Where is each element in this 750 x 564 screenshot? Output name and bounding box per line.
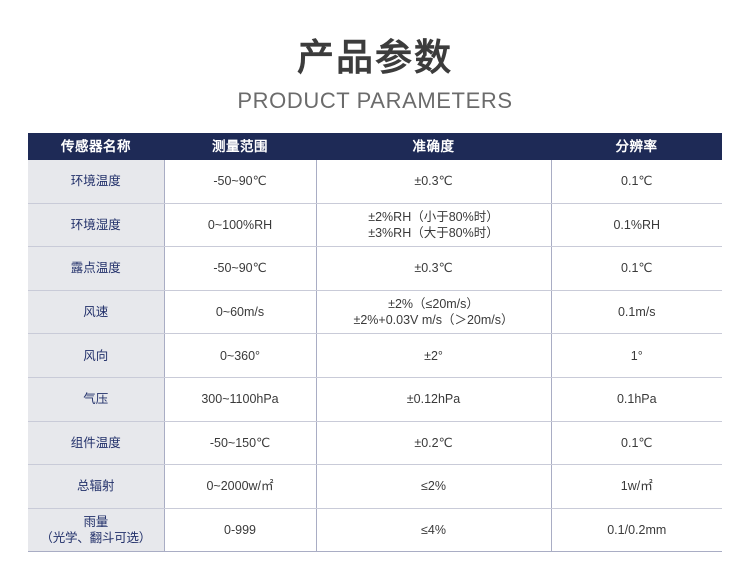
cell-measuring-range: -50~150℃ bbox=[164, 421, 316, 465]
sensor-name-main: 风向 bbox=[32, 348, 160, 364]
sensor-name-main: 环境湿度 bbox=[32, 217, 160, 233]
accuracy-line-1: ±0.2℃ bbox=[321, 435, 547, 451]
sensor-name-main: 总辐射 bbox=[32, 478, 160, 494]
cell-accuracy: ±0.12hPa bbox=[316, 377, 551, 421]
cell-resolution: 1° bbox=[551, 334, 722, 378]
cell-accuracy: ±0.2℃ bbox=[316, 421, 551, 465]
cell-sensor-name: 露点温度 bbox=[28, 247, 164, 291]
cell-accuracy: ≤4% bbox=[316, 508, 551, 552]
accuracy-line-1: ±2%RH（小于80%时） bbox=[321, 209, 547, 225]
table-row: 雨量 （光学、翻斗可选） 0-999 ≤4% 0.1/0.2mm bbox=[28, 508, 722, 552]
cell-sensor-name: 风速 bbox=[28, 290, 164, 334]
cell-sensor-name: 雨量 （光学、翻斗可选） bbox=[28, 508, 164, 552]
cell-measuring-range: 0~2000w/㎡ bbox=[164, 465, 316, 509]
sensor-name-main: 环境温度 bbox=[32, 173, 160, 189]
sensor-name-main: 组件温度 bbox=[32, 435, 160, 451]
sensor-name-sub: （光学、翻斗可选） bbox=[32, 530, 160, 546]
table-row: 环境温度 -50~90℃ ±0.3℃ 0.1℃ bbox=[28, 160, 722, 203]
cell-sensor-name: 风向 bbox=[28, 334, 164, 378]
column-header-sensor-name: 传感器名称 bbox=[28, 133, 164, 160]
column-header-measuring-range: 测量范围 bbox=[164, 133, 316, 160]
table-row: 风速 0~60m/s ±2%（≤20m/s） ±2%+0.03V m/s（＞20… bbox=[28, 290, 722, 334]
accuracy-line-1: ±2° bbox=[321, 348, 547, 364]
accuracy-line-2: ±2%+0.03V m/s（＞20m/s） bbox=[321, 312, 547, 328]
spec-table: 传感器名称 测量范围 准确度 分辨率 环境温度 -50~90℃ ±0.3℃ 0.… bbox=[28, 133, 722, 552]
table-row: 环境湿度 0~100%RH ±2%RH（小于80%时） ±3%RH（大于80%时… bbox=[28, 203, 722, 247]
cell-resolution: 0.1m/s bbox=[551, 290, 722, 334]
sensor-name-main: 气压 bbox=[32, 391, 160, 407]
cell-resolution: 0.1/0.2mm bbox=[551, 508, 722, 552]
cell-sensor-name: 组件温度 bbox=[28, 421, 164, 465]
cell-resolution: 0.1℃ bbox=[551, 421, 722, 465]
cell-measuring-range: 0~360° bbox=[164, 334, 316, 378]
table-header-row: 传感器名称 测量范围 准确度 分辨率 bbox=[28, 133, 722, 160]
page-title: 产品参数 bbox=[0, 36, 750, 80]
column-header-resolution: 分辨率 bbox=[551, 133, 722, 160]
cell-accuracy: ≤2% bbox=[316, 465, 551, 509]
cell-measuring-range: 0~100%RH bbox=[164, 203, 316, 247]
cell-measuring-range: 0~60m/s bbox=[164, 290, 316, 334]
accuracy-line-1: ≤4% bbox=[321, 522, 547, 538]
cell-sensor-name: 环境温度 bbox=[28, 160, 164, 203]
sensor-name-main: 风速 bbox=[32, 304, 160, 320]
table-row: 总辐射 0~2000w/㎡ ≤2% 1w/㎡ bbox=[28, 465, 722, 509]
cell-accuracy: ±0.3℃ bbox=[316, 160, 551, 203]
cell-accuracy: ±2%RH（小于80%时） ±3%RH（大于80%时） bbox=[316, 203, 551, 247]
cell-measuring-range: 0-999 bbox=[164, 508, 316, 552]
cell-accuracy: ±0.3℃ bbox=[316, 247, 551, 291]
cell-accuracy: ±2° bbox=[316, 334, 551, 378]
cell-accuracy: ±2%（≤20m/s） ±2%+0.03V m/s（＞20m/s） bbox=[316, 290, 551, 334]
accuracy-line-1: ±2%（≤20m/s） bbox=[321, 296, 547, 312]
spec-table-body: 环境温度 -50~90℃ ±0.3℃ 0.1℃ 环境湿度 0~100%RH ±2… bbox=[28, 160, 722, 552]
cell-sensor-name: 气压 bbox=[28, 377, 164, 421]
cell-resolution: 0.1%RH bbox=[551, 203, 722, 247]
product-parameters-page: 产品参数 PRODUCT PARAMETERS 传感器名称 测量范围 准确度 分… bbox=[0, 0, 750, 564]
page-title-block: 产品参数 PRODUCT PARAMETERS bbox=[0, 36, 750, 116]
accuracy-line-2: ±3%RH（大于80%时） bbox=[321, 225, 547, 241]
accuracy-line-1: ±0.3℃ bbox=[321, 173, 547, 189]
cell-sensor-name: 环境湿度 bbox=[28, 203, 164, 247]
accuracy-line-1: ±0.12hPa bbox=[321, 391, 547, 407]
cell-resolution: 1w/㎡ bbox=[551, 465, 722, 509]
cell-sensor-name: 总辐射 bbox=[28, 465, 164, 509]
cell-resolution: 0.1hPa bbox=[551, 377, 722, 421]
cell-measuring-range: 300~1100hPa bbox=[164, 377, 316, 421]
spec-table-container: 传感器名称 测量范围 准确度 分辨率 环境温度 -50~90℃ ±0.3℃ 0.… bbox=[28, 133, 722, 552]
cell-resolution: 0.1℃ bbox=[551, 247, 722, 291]
accuracy-line-1: ≤2% bbox=[321, 478, 547, 494]
cell-measuring-range: -50~90℃ bbox=[164, 160, 316, 203]
accuracy-line-1: ±0.3℃ bbox=[321, 260, 547, 276]
sensor-name-main: 露点温度 bbox=[32, 260, 160, 276]
table-row: 组件温度 -50~150℃ ±0.2℃ 0.1℃ bbox=[28, 421, 722, 465]
cell-measuring-range: -50~90℃ bbox=[164, 247, 316, 291]
page-subtitle: PRODUCT PARAMETERS bbox=[0, 86, 750, 116]
table-row: 风向 0~360° ±2° 1° bbox=[28, 334, 722, 378]
cell-resolution: 0.1℃ bbox=[551, 160, 722, 203]
column-header-accuracy: 准确度 bbox=[316, 133, 551, 160]
spec-table-head: 传感器名称 测量范围 准确度 分辨率 bbox=[28, 133, 722, 160]
table-row: 露点温度 -50~90℃ ±0.3℃ 0.1℃ bbox=[28, 247, 722, 291]
table-row: 气压 300~1100hPa ±0.12hPa 0.1hPa bbox=[28, 377, 722, 421]
sensor-name-main: 雨量 bbox=[32, 514, 160, 530]
